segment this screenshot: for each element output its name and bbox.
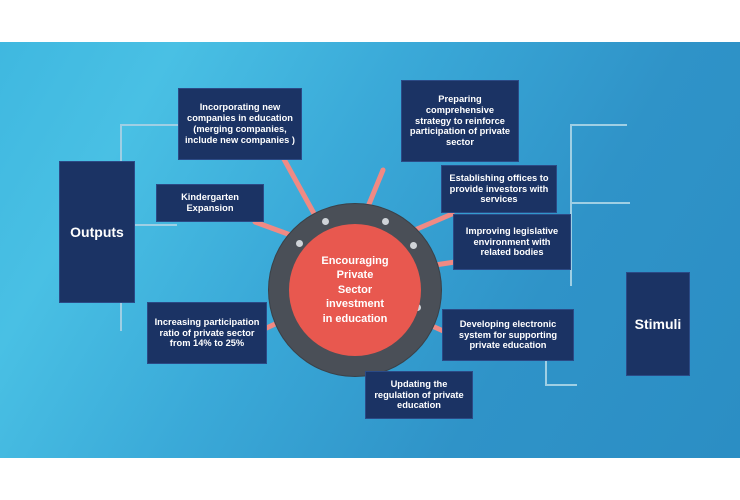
- side-label-stimuli-text: Stimuli: [635, 316, 682, 332]
- hub-center[interactable]: Encouraging Private Sector investment in…: [289, 224, 421, 356]
- node-developing-label: Developing electronic system for support…: [448, 319, 568, 351]
- node-incorporating[interactable]: Incorporating new companies in education…: [178, 88, 302, 160]
- hub-center-label: Encouraging Private Sector investment in…: [321, 254, 388, 327]
- node-updating[interactable]: Updating the regulation of private educa…: [365, 371, 473, 419]
- side-label-outputs-text: Outputs: [70, 224, 124, 240]
- node-increasing[interactable]: Increasing participation ratio of privat…: [147, 302, 267, 364]
- node-kindergarten-label: Kindergarten Expansion: [162, 192, 258, 214]
- side-label-outputs[interactable]: Outputs: [59, 161, 135, 303]
- node-establishing[interactable]: Establishing offices to provide investor…: [441, 165, 557, 213]
- hub-knob-4: [410, 242, 417, 249]
- node-preparing[interactable]: Preparing comprehensive strategy to rein…: [401, 80, 519, 162]
- side-label-stimuli[interactable]: Stimuli: [626, 272, 690, 376]
- node-incorporating-label: Incorporating new companies in education…: [184, 102, 296, 145]
- hub-knob-2: [382, 218, 389, 225]
- slide-stage: Encouraging Private Sector investment in…: [0, 0, 740, 500]
- node-improving-label: Improving legislative environment with r…: [459, 226, 565, 258]
- node-establishing-label: Establishing offices to provide investor…: [447, 173, 551, 205]
- node-preparing-label: Preparing comprehensive strategy to rein…: [407, 94, 513, 148]
- node-developing[interactable]: Developing electronic system for support…: [442, 309, 574, 361]
- hub-knob-3: [296, 240, 303, 247]
- diagram-canvas: Encouraging Private Sector investment in…: [0, 42, 740, 458]
- node-increasing-label: Increasing participation ratio of privat…: [153, 317, 261, 349]
- node-improving[interactable]: Improving legislative environment with r…: [453, 214, 571, 270]
- hub-knob-1: [322, 218, 329, 225]
- node-kindergarten[interactable]: Kindergarten Expansion: [156, 184, 264, 222]
- node-updating-label: Updating the regulation of private educa…: [371, 379, 467, 411]
